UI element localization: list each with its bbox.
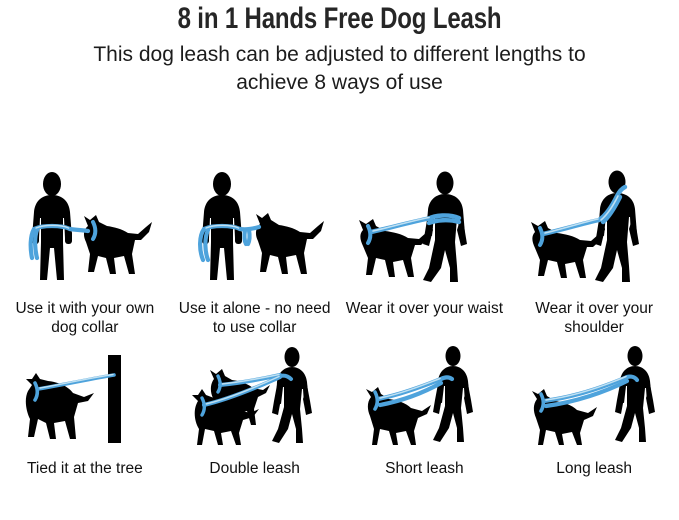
panel-short-leash: Short leash: [340, 345, 510, 495]
dog-collar: [540, 228, 542, 245]
dog-collar: [368, 226, 370, 243]
panel-use-alone-no-collar: Use it alone - no need to use collar: [170, 170, 340, 345]
usage-grid: Use it with your own dog collar: [0, 170, 679, 495]
tree-post: [108, 355, 121, 443]
person-silhouette: [615, 346, 655, 442]
leash-highlight: [40, 375, 113, 389]
person-silhouette: [595, 171, 639, 283]
panel-caption: Long leash: [509, 459, 679, 478]
panel-caption: Wear it over your shoulder: [509, 299, 679, 337]
leash-highlight: [373, 218, 429, 232]
panel-caption: Use it with your own dog collar: [0, 299, 170, 337]
page-title: 8 in 1 Hands Free Dog Leash: [68, 3, 611, 35]
panel-caption: Use it alone - no need to use collar: [170, 299, 340, 337]
header: 8 in 1 Hands Free Dog Leash This dog lea…: [0, 0, 679, 97]
panel-long-leash: Long leash: [509, 345, 679, 495]
illustration-use-alone: [170, 170, 340, 288]
panel-wear-over-waist: Wear it over your waist: [340, 170, 510, 345]
scene-person-walking-leash-shoulder: [519, 170, 669, 288]
panel-caption: Double leash: [170, 459, 340, 478]
panel-double-leash: Double leash: [170, 345, 340, 495]
scene-person-walking-dog-long-leash: [519, 345, 669, 450]
illustration-double-leash: [170, 345, 340, 450]
panel-wear-over-shoulder: Wear it over your shoulder: [509, 170, 679, 345]
usage-row-bottom: Tied it at the tree: [0, 345, 679, 495]
illustration-long-leash: [509, 345, 679, 450]
scene-person-walking-two-dogs: [180, 345, 330, 450]
illustration-wear-over-waist: [340, 170, 510, 288]
panel-caption: Tied it at the tree: [0, 459, 170, 478]
person-silhouette: [423, 172, 467, 283]
panel-tied-at-tree: Tied it at the tree: [0, 345, 170, 495]
usage-row-top: Use it with your own dog collar: [0, 170, 679, 345]
illustration-own-dog-collar: [0, 170, 170, 288]
illustration-short-leash: [340, 345, 510, 450]
illustration-wear-over-shoulder: [509, 170, 679, 288]
panel-caption: Wear it over your waist: [340, 299, 510, 318]
scene-person-walking-leash-waist: [349, 170, 499, 288]
page-subtitle: This dog leash can be adjusted to differ…: [0, 41, 679, 97]
illustration-tied-at-tree: [0, 345, 170, 450]
person-silhouette: [433, 346, 473, 442]
scene-person-standing-with-dog: [10, 170, 160, 288]
panel-own-dog-collar: Use it with your own dog collar: [0, 170, 170, 345]
product-infographic: 8 in 1 Hands Free Dog Leash This dog lea…: [0, 0, 679, 520]
person-silhouette: [272, 347, 312, 443]
scene-person-walking-dog-short-leash: [349, 345, 499, 450]
dog-collar: [93, 222, 95, 239]
scene-dog-tied-to-post: [10, 345, 160, 450]
scene-person-standing-dog-no-collar: [180, 170, 330, 288]
dog-silhouette: [256, 213, 324, 274]
panel-caption: Short leash: [340, 459, 510, 478]
